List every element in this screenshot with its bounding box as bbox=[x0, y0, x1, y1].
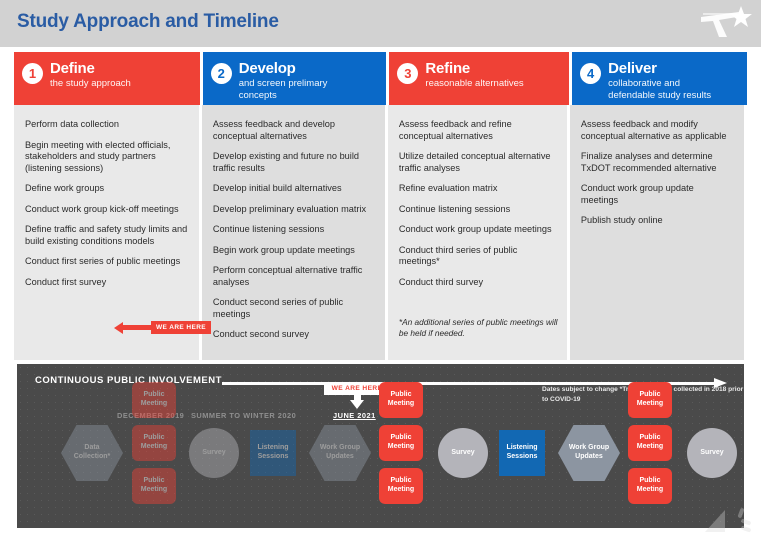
stage-number-badge: 4 bbox=[580, 63, 601, 84]
list-item: Assess feedback and modify conceptual al… bbox=[581, 119, 733, 142]
stage-header-deliver: 4Delivercollaborative anddefendable stud… bbox=[572, 52, 747, 105]
arrow-left-icon bbox=[114, 322, 123, 334]
timeline-node[interactable]: Public Meeting bbox=[379, 425, 423, 461]
list-item: Conduct first series of public meetings bbox=[25, 256, 188, 268]
stage-column-3: Assess feedback and refine conceptual al… bbox=[388, 105, 567, 360]
continuous-involvement-timeline: CONTINUOUS PUBLIC INVOLVEMENT Dates subj… bbox=[17, 364, 744, 528]
stage-subtitle: collaborative anddefendable study result… bbox=[608, 78, 711, 101]
list-item: Refine evaluation matrix bbox=[399, 183, 556, 195]
stage-name: Refine bbox=[425, 61, 523, 77]
txdot-watermark-icon bbox=[703, 502, 755, 536]
list-item: Define traffic and safety study limits a… bbox=[25, 224, 188, 247]
page-title: Study Approach and Timeline bbox=[17, 11, 279, 33]
list-item: Conduct first survey bbox=[25, 277, 188, 289]
list-item: Utilize detailed conceptual alternative … bbox=[399, 151, 556, 174]
list-item: Conduct work group kick-off meetings bbox=[25, 204, 188, 216]
page-header: Study Approach and Timeline bbox=[0, 0, 761, 47]
list-item: Develop existing and future no build tra… bbox=[213, 151, 374, 174]
timeline-node[interactable]: Listening Sessions bbox=[250, 430, 296, 476]
list-item: Continue listening sessions bbox=[213, 224, 374, 236]
stage-header-refine: 3Refinereasonable alternatives bbox=[389, 52, 569, 105]
list-item: Conduct work group update meetings bbox=[399, 224, 556, 236]
stage-column-2: Assess feedback and develop conceptual a… bbox=[202, 105, 385, 360]
timeline-node[interactable]: Survey bbox=[438, 428, 488, 478]
stage-name: Deliver bbox=[608, 61, 711, 77]
list-item: Develop initial build alternatives bbox=[213, 183, 374, 195]
timeline-node[interactable]: Public Meeting bbox=[132, 425, 176, 461]
list-item: Perform data collection bbox=[25, 119, 188, 131]
study-approach-timeline-page: Study Approach and Timeline 1Definethe s… bbox=[0, 0, 761, 538]
timeline-date-label: JUNE 2021 bbox=[333, 411, 376, 420]
timeline-node[interactable]: Public Meeting bbox=[628, 425, 672, 461]
list-item: Finalize analyses and determine TxDOT re… bbox=[581, 151, 733, 174]
timeline-node[interactable]: Public Meeting bbox=[132, 382, 176, 418]
timeline-date-label: SUMMER TO WINTER 2020 bbox=[191, 411, 296, 420]
list-item: Conduct second survey bbox=[213, 329, 374, 341]
stage-subtitle: reasonable alternatives bbox=[425, 78, 523, 90]
arrow-down-icon bbox=[350, 400, 364, 409]
list-item: Conduct third series of public meetings* bbox=[399, 245, 556, 268]
stage-name: Develop bbox=[239, 61, 328, 77]
timeline-node[interactable]: Work Group Updates bbox=[558, 425, 620, 481]
timeline-title: CONTINUOUS PUBLIC INVOLVEMENT bbox=[35, 375, 222, 386]
stage-header-develop: 2Developand screen prelimaryconcepts bbox=[203, 52, 387, 105]
arrow-shaft bbox=[123, 325, 151, 330]
list-item: Assess feedback and develop conceptual a… bbox=[213, 119, 374, 142]
timeline-node[interactable]: Public Meeting bbox=[132, 468, 176, 504]
list-item: Assess feedback and refine conceptual al… bbox=[399, 119, 556, 142]
stage-subtitle: the study approach bbox=[50, 78, 131, 90]
list-item: Begin work group update meetings bbox=[213, 245, 374, 257]
list-item: Conduct second series of public meetings bbox=[213, 297, 374, 320]
stage-header-bar: 1Definethe study approach2Developand scr… bbox=[14, 52, 747, 105]
timeline-node[interactable]: Public Meeting bbox=[379, 382, 423, 418]
timeline-node[interactable]: Work Group Updates bbox=[309, 425, 371, 481]
timeline-node[interactable]: Public Meeting bbox=[379, 468, 423, 504]
timeline-node[interactable]: Data Collection* bbox=[61, 425, 123, 481]
timeline-node[interactable]: Listening Sessions bbox=[499, 430, 545, 476]
stage-number-badge: 1 bbox=[22, 63, 43, 84]
timeline-node[interactable]: Public Meeting bbox=[628, 382, 672, 418]
column-we-are-here-marker: WE ARE HERE bbox=[114, 321, 211, 334]
txdot-star-logo-icon bbox=[697, 4, 753, 40]
list-item: Develop preliminary evaluation matrix bbox=[213, 204, 374, 216]
list-item: Conduct work group update meetings bbox=[581, 183, 733, 206]
timeline-node[interactable]: Survey bbox=[189, 428, 239, 478]
timeline-node[interactable]: Survey bbox=[687, 428, 737, 478]
list-item: Conduct third survey bbox=[399, 277, 556, 289]
list-item: Perform conceptual alternative traffic a… bbox=[213, 265, 374, 288]
stage-column-4: Assess feedback and modify conceptual al… bbox=[570, 105, 744, 360]
list-item: Continue listening sessions bbox=[399, 204, 556, 216]
timeline-node[interactable]: Public Meeting bbox=[628, 468, 672, 504]
list-item: Begin meeting with elected officials, st… bbox=[25, 140, 188, 175]
stage-columns: Perform data collectionBegin meeting wit… bbox=[14, 105, 747, 360]
stage-number-badge: 2 bbox=[211, 63, 232, 84]
stage-subtitle: and screen prelimaryconcepts bbox=[239, 78, 328, 101]
stage-number-badge: 3 bbox=[397, 63, 418, 84]
list-item: Publish study online bbox=[581, 215, 733, 227]
stage-name: Define bbox=[50, 61, 131, 77]
list-item: Define work groups bbox=[25, 183, 188, 195]
stage-header-define: 1Definethe study approach bbox=[14, 52, 200, 105]
we-are-here-label: WE ARE HERE bbox=[151, 321, 211, 334]
column-footnote: *An additional series of public meetings… bbox=[399, 317, 558, 338]
